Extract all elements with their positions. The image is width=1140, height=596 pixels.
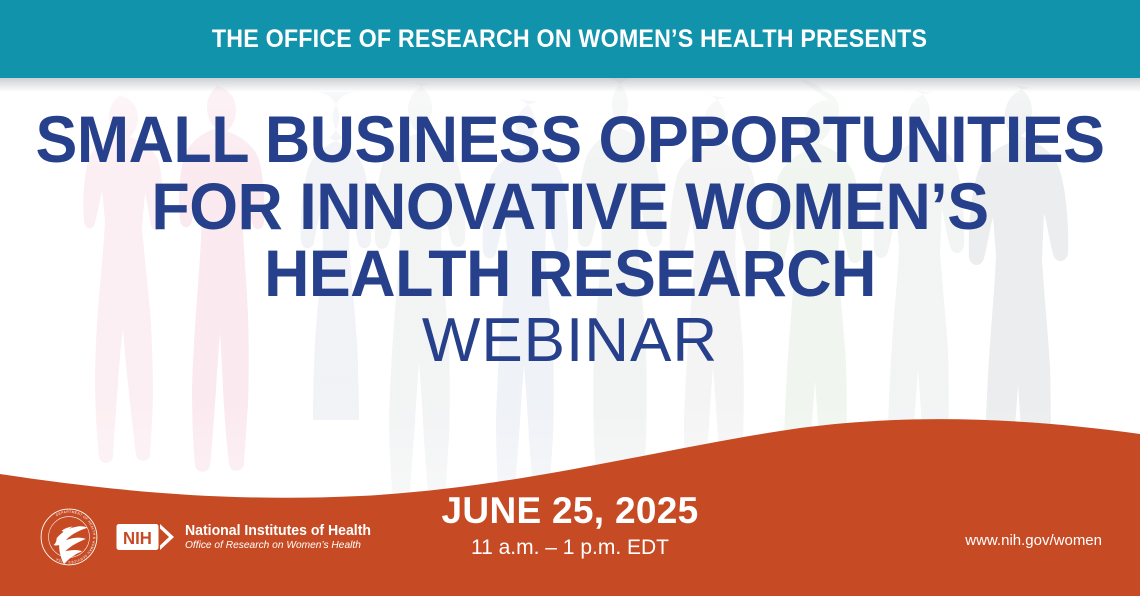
event-date: JUNE 25, 2025	[0, 492, 1140, 531]
topbar: THE OFFICE OF RESEARCH ON WOMEN’S HEALTH…	[0, 0, 1140, 78]
footer-bar: DEPARTMENT OF HEALTH & HUMAN SERVICES · …	[0, 480, 1140, 596]
event-datetime: JUNE 25, 2025 11 a.m. – 1 p.m. EDT	[0, 492, 1140, 561]
webinar-promo-banner: THE OFFICE OF RESEARCH ON WOMEN’S HEALTH…	[0, 0, 1140, 596]
headline-line-2: FOR INNOVATIVE WOMEN’S	[29, 175, 1112, 237]
headline-block: SMALL BUSINESS OPPORTUNITIES FOR INNOVAT…	[0, 108, 1140, 372]
headline-line-3: HEALTH RESEARCH	[29, 242, 1112, 304]
headline-line-1: SMALL BUSINESS OPPORTUNITIES	[29, 108, 1112, 170]
topbar-title: THE OFFICE OF RESEARCH ON WOMEN’S HEALTH…	[212, 25, 927, 54]
headline-subtitle-webinar: WEBINAR	[0, 310, 1140, 372]
website-url[interactable]: www.nih.gov/women	[965, 532, 1102, 549]
